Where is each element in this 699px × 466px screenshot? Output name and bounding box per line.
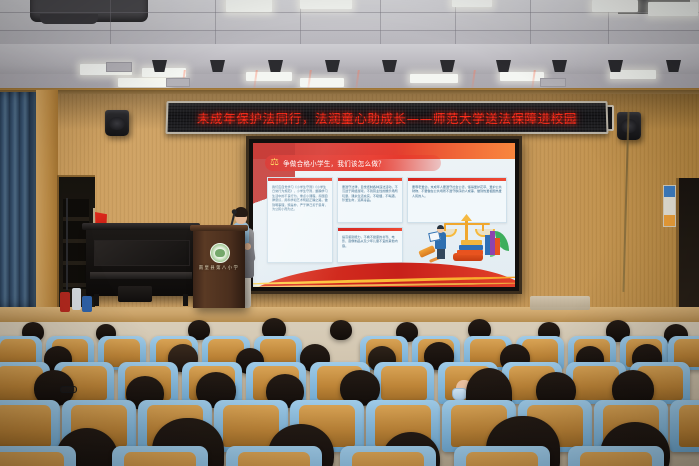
slide-title-pill: ⚖ 争做合格小学生，我们该怎么做？ — [265, 155, 441, 171]
window-curtain — [0, 92, 38, 307]
scales-of-justice-icon: ⚖ — [269, 157, 280, 169]
wall-pillar-left — [36, 90, 58, 308]
person-hair — [437, 225, 444, 229]
lectern-school-name: 南皇县第八小学 — [193, 265, 245, 271]
slide-bottom-wave — [253, 253, 515, 287]
piano-lid — [82, 223, 200, 230]
ceiling-air-vent — [106, 62, 132, 72]
auditorium-photo: 未成年保护法同行，法润童心助成长——师范大学送法保障进校园 ⚖ 争做合格小学生，… — [0, 0, 699, 466]
auditorium-seat — [112, 446, 208, 466]
ceiling-panel-light — [452, 0, 492, 7]
card-top-bar — [408, 178, 506, 181]
equipment-stand — [66, 198, 68, 290]
wall-poster — [663, 185, 676, 227]
piano-keyboard-cover — [90, 272, 192, 279]
lectern-top — [190, 225, 248, 231]
auditorium-seat — [0, 400, 60, 452]
audience-area — [0, 300, 699, 466]
wall-speaker-left — [105, 110, 129, 136]
book-icon — [461, 240, 482, 245]
slide-title: 争做合格小学生，我们该怎么做？ — [283, 158, 385, 168]
school-crest-icon — [210, 243, 230, 263]
slide-card: 要遵守法律，自觉抵制各种违法活动，不沉迷于网络游戏，不到营业性的娱乐场所玩耍，课… — [337, 177, 403, 223]
card-top-bar — [338, 178, 402, 181]
slide-card: 我们应自觉学习《小学生守则》《小学生日常行为规范》，小学生守则，整确学习生活中的… — [267, 177, 333, 263]
ceiling-panel-light — [648, 2, 698, 16]
ceiling-air-vent — [540, 78, 566, 87]
ceiling-panel-light — [300, 0, 352, 9]
auditorium-seat — [226, 446, 322, 466]
auditorium-seat — [670, 400, 699, 452]
door-right[interactable] — [676, 178, 699, 308]
card-text: 要遵守法律，自觉抵制各种违法活动，不沉迷于网络游戏，不到营业性的娱乐场所玩耍，课… — [342, 185, 398, 219]
scales-top — [461, 214, 472, 221]
ceiling-panel-light — [410, 74, 458, 83]
led-banner: 未成年保护法同行，法润童心助成长——师范大学送法保障进校园 — [165, 101, 608, 134]
ceiling-panel-light — [118, 78, 168, 87]
ceiling — [0, 0, 699, 96]
ceiling-air-vent — [166, 78, 190, 87]
lectern: 南皇县第八小学 — [193, 229, 245, 308]
auditorium-seat — [454, 446, 550, 466]
piano-front-panel — [94, 240, 190, 266]
book-icon — [459, 245, 483, 250]
ceiling-panel-light — [246, 72, 292, 81]
card-top-bar — [268, 178, 332, 181]
auditorium-seat — [374, 362, 434, 404]
eyeglasses — [60, 386, 77, 393]
ceiling-panel-light — [592, 0, 638, 12]
ceiling-panel-light — [500, 72, 544, 81]
audience-head — [330, 320, 352, 340]
led-banner-text: 未成年保护法同行，法润童心助成长——师范大学送法保障进校园 — [168, 103, 607, 132]
ceiling-panel-light — [226, 0, 272, 12]
presenter-hand — [244, 243, 251, 250]
auditorium-seat — [0, 446, 76, 466]
projection-screen: ⚖ 争做合格小学生，我们该怎么做？ 我们应自觉学习《小学生守则》《小学生日常行为… — [253, 143, 515, 287]
card-top-bar — [338, 228, 402, 231]
auditorium-seat — [568, 446, 664, 466]
card-text: 我们应自觉学习《小学生守则》《小学生日常行为规范》，小学生守则，整确学习生活中的… — [272, 185, 328, 259]
projection-screen-frame: ⚖ 争做合格小学生，我们该怎么做？ 我们应自觉学习《小学生守则》《小学生日常行为… — [246, 136, 522, 294]
auditorium-seat — [340, 446, 436, 466]
presentation-slide: ⚖ 争做合格小学生，我们该怎么做？ 我们应自觉学习《小学生守则》《小学生日常行为… — [253, 143, 515, 287]
